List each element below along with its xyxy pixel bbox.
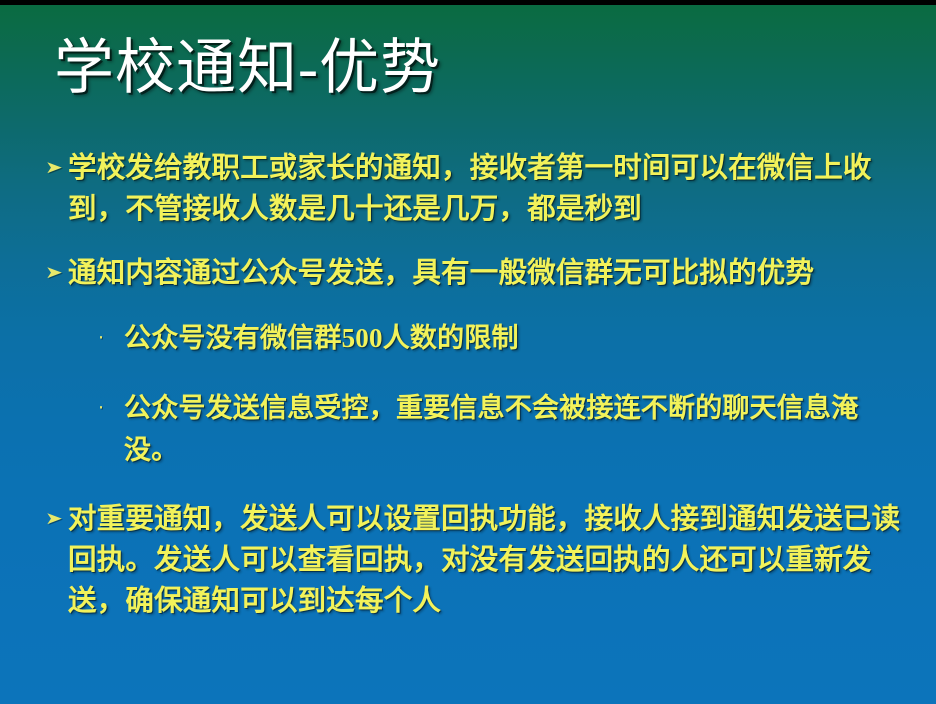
bullet-text: 对重要通知，发送人可以设置回执功能，接收人接到通知发送已读回执。发送人可以查看回… — [68, 499, 906, 622]
chevron-bullet-icon: ➤ — [45, 148, 74, 188]
dot-bullet-icon: · — [98, 387, 124, 429]
bullet-text: 通知内容通过公众号发送，具有一般微信群无可比拟的优势 — [68, 253, 906, 294]
sub-bullet-item: · 公众号没有微信群500人数的限制 — [0, 317, 936, 359]
slide-top-border — [0, 0, 936, 5]
slide-title: 学校通知-优势 — [54, 27, 894, 113]
chevron-bullet-icon: ➤ — [45, 499, 74, 539]
slide-body: ➤ 学校发给教职工或家长的通知，接收者第一时间可以在微信上收到，不管接收人数是几… — [0, 148, 936, 637]
spacer — [0, 245, 936, 253]
chevron-bullet-icon: ➤ — [45, 253, 74, 293]
bullet-item: ➤ 对重要通知，发送人可以设置回执功能，接收人接到通知发送已读回执。发送人可以查… — [0, 499, 936, 622]
dot-bullet-icon: · — [98, 317, 124, 359]
sub-bullet-text: 公众号发送信息受控，重要信息不会被接连不断的聊天信息淹没。 — [124, 387, 866, 471]
spacer — [0, 487, 936, 499]
bullet-text: 学校发给教职工或家长的通知，接收者第一时间可以在微信上收到，不管接收人数是几十还… — [68, 148, 906, 230]
spacer — [0, 309, 936, 317]
spacer — [0, 375, 936, 387]
presentation-slide: 学校通知-优势 ➤ 学校发给教职工或家长的通知，接收者第一时间可以在微信上收到，… — [0, 0, 936, 704]
sub-bullet-item: · 公众号发送信息受控，重要信息不会被接连不断的聊天信息淹没。 — [0, 387, 936, 471]
bullet-item: ➤ 学校发给教职工或家长的通知，接收者第一时间可以在微信上收到，不管接收人数是几… — [0, 148, 936, 230]
sub-bullet-text: 公众号没有微信群500人数的限制 — [124, 317, 866, 359]
bullet-item: ➤ 通知内容通过公众号发送，具有一般微信群无可比拟的优势 — [0, 253, 936, 294]
